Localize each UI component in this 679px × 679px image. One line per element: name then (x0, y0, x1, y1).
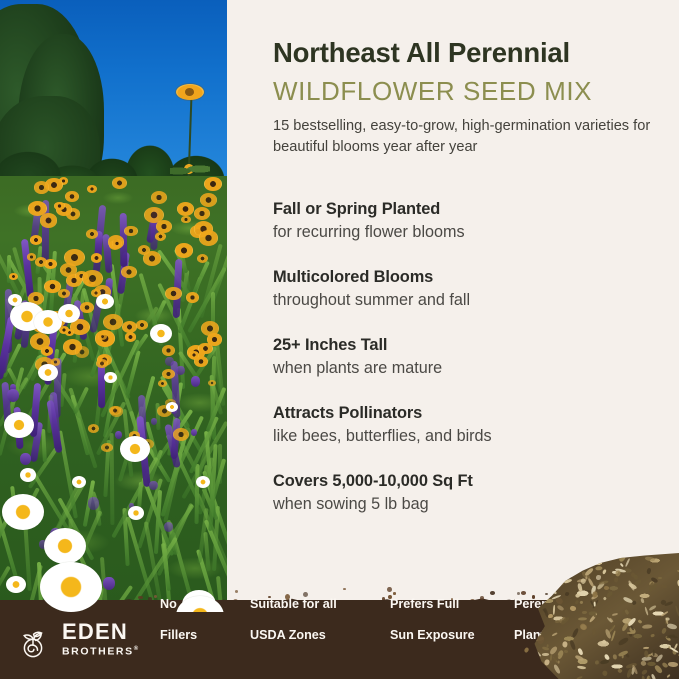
list-item: Attracts Pollinators like bees, butterfl… (273, 402, 663, 448)
seed-fleck (571, 627, 580, 638)
seed-fleck (552, 632, 558, 636)
seed-fleck (512, 673, 517, 678)
seed-fleck (578, 616, 587, 619)
seed-fleck (625, 668, 633, 679)
feature-title: Attracts Pollinators (273, 402, 663, 424)
feature-subtitle: for recurring flower blooms (273, 221, 663, 244)
callout-usda-zones: Suitable for all USDA Zones (250, 582, 362, 660)
wildflower-meadow-photo (0, 0, 227, 612)
seed-fleck (618, 637, 630, 647)
brand-name-bottom: BROTHERS® (62, 646, 140, 657)
seed-fleck (542, 646, 550, 651)
feature-subtitle: throughout summer and fall (273, 289, 663, 312)
list-item: Multicolored Blooms throughout summer an… (273, 266, 663, 312)
seed-fleck (644, 650, 648, 657)
seed-fleck (534, 662, 543, 671)
page-title: Northeast All Perennial (273, 37, 570, 69)
brand-footer-bar: EDEN BROTHERS® No Fillers Suitable for a… (0, 600, 679, 679)
seed-fleck (668, 662, 679, 668)
seed-fleck (575, 654, 584, 661)
seed-fleck (556, 605, 564, 612)
seed-fleck (617, 668, 623, 674)
seed-fleck (627, 632, 635, 634)
seed-fleck (575, 592, 581, 598)
product-info-card: Northeast All Perennial WILDFLOWER SEED … (0, 0, 679, 679)
seed-fleck (667, 622, 678, 629)
seed-fleck (612, 612, 618, 616)
seed-fleck (625, 558, 630, 567)
seed-fleck (641, 598, 645, 603)
callout-line-2: USDA Zones (250, 628, 362, 644)
seed-fleck (529, 663, 539, 671)
brand-logo: EDEN BROTHERS® (18, 619, 140, 659)
feature-title: Fall or Spring Planted (273, 198, 663, 220)
seed-fleck (525, 673, 531, 679)
seed-fleck (601, 670, 608, 677)
callout-line-2: Fillers (160, 628, 222, 644)
soil-crumb (19, 590, 22, 592)
seed-fleck (577, 665, 586, 670)
seed-fleck (661, 662, 668, 669)
seed-fleck (658, 577, 662, 579)
seed-fleck (601, 639, 607, 645)
feature-subtitle: when plants are mature (273, 357, 663, 380)
callout-sun-exposure: Prefers Full Sun Exposure (390, 582, 486, 660)
seed-fleck (598, 580, 608, 585)
list-item: Covers 5,000-10,000 Sq Ft when sowing 5 … (273, 470, 663, 516)
seed-fleck (614, 577, 619, 583)
seed-fleck (661, 584, 667, 588)
seed-fleck (542, 671, 551, 679)
seed-fleck (620, 563, 623, 567)
feature-title: 25+ Inches Tall (273, 334, 663, 356)
meadow-foliage (0, 176, 227, 612)
list-item: 25+ Inches Tall when plants are mature (273, 334, 663, 380)
seed-fleck (651, 673, 656, 679)
seed-fleck (595, 566, 602, 570)
seed-fleck (580, 600, 584, 604)
seed-fleck (582, 611, 587, 614)
soil-crumb (88, 592, 91, 596)
callout-line-1: No (160, 597, 222, 613)
seed-fleck (651, 633, 655, 637)
seed-fleck (564, 592, 569, 597)
brand-name-bottom-text: BROTHERS (62, 646, 134, 658)
seedling-sprout-icon (18, 619, 54, 659)
seed-fleck (642, 625, 652, 629)
callout-no-fillers: No Fillers (160, 582, 222, 660)
feature-subtitle: when sowing 5 lb bag (273, 493, 663, 516)
product-subtitle: WILDFLOWER SEED MIX (273, 76, 592, 107)
seed-fleck (575, 600, 579, 605)
seed-fleck (661, 628, 667, 635)
seed-fleck (676, 605, 679, 616)
seed-fleck (649, 604, 657, 611)
list-item: Fall or Spring Planted for recurring flo… (273, 198, 663, 244)
seed-fleck (553, 664, 561, 675)
feature-title: Multicolored Blooms (273, 266, 663, 288)
seed-fleck (564, 649, 569, 653)
seed-fleck (592, 628, 596, 636)
seed-fleck (640, 660, 647, 667)
seed-fleck (621, 609, 631, 615)
seed-fleck (641, 675, 645, 679)
brand-name-top: EDEN (62, 621, 140, 643)
seed-fleck (666, 674, 671, 679)
feature-subtitle: like bees, butterflies, and birds (273, 425, 663, 448)
callout-line-1: Prefers Full (390, 597, 486, 613)
registered-mark: ® (134, 646, 140, 652)
seed-fleck (542, 653, 549, 656)
seed-fleck (645, 556, 655, 562)
seed-fleck (596, 575, 601, 580)
seed-fleck (613, 654, 617, 660)
tall-yellow-bloom (176, 84, 204, 100)
seed-fleck (600, 660, 610, 665)
seed-fleck (633, 574, 638, 580)
product-description: 15 bestselling, easy-to-grow, high-germi… (273, 116, 653, 158)
seed-fleck (595, 659, 600, 664)
feature-title: Covers 5,000-10,000 Sq Ft (273, 470, 663, 492)
seed-fleck (544, 671, 549, 676)
seed-fleck (632, 601, 637, 606)
seed-fleck (569, 640, 575, 650)
soil-crumb (154, 595, 157, 598)
seed-fleck (640, 668, 648, 675)
seed-fleck (527, 662, 532, 668)
brand-wordmark: EDEN BROTHERS® (62, 621, 140, 657)
seed-fleck (643, 647, 649, 649)
seed-fleck (602, 596, 607, 601)
seed-fleck (653, 650, 655, 656)
callout-line-1: Suitable for all (250, 597, 362, 613)
seed-fleck (602, 569, 607, 575)
seed-fleck (553, 605, 556, 615)
seed-fleck (589, 600, 593, 606)
callout-line-2: Sun Exposure (390, 628, 486, 644)
seed-fleck (661, 611, 668, 616)
seed-fleck (646, 567, 652, 574)
seed-fleck (637, 620, 642, 625)
seed-fleck (654, 664, 663, 674)
feature-list: Fall or Spring Planted for recurring flo… (273, 198, 663, 538)
seed-fleck (620, 622, 629, 632)
text-panel: Northeast All Perennial WILDFLOWER SEED … (227, 0, 679, 612)
